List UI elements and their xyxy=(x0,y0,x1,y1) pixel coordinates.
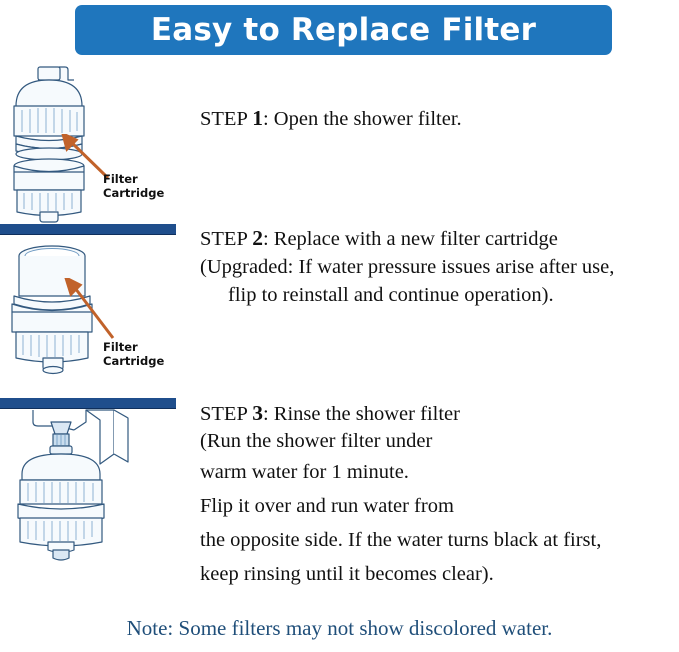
callout-line-2: Cartridge xyxy=(103,354,164,368)
filter-mounted-graphic xyxy=(0,400,190,565)
step-2-line-2: (Upgraded: If water pressure issues aris… xyxy=(200,253,614,281)
step-1-text: STEP 1: Open the shower filter. xyxy=(200,105,462,132)
illustration-filter-mounted xyxy=(0,400,190,560)
step-3-line-1: STEP 3: Rinse the shower filter xyxy=(200,400,601,428)
footer-note: Note: Some filters may not show discolor… xyxy=(0,616,679,641)
step-1-body: : Open the shower filter. xyxy=(263,108,462,130)
step-2-body: : Replace with a new filter cartridge xyxy=(263,228,558,250)
step-3-body: : Rinse the shower filter xyxy=(263,403,460,425)
step-3-line-4: Flip it over and run water from xyxy=(200,489,601,523)
step-1-label: STEP xyxy=(200,108,247,130)
page-title-banner: Easy to Replace Filter xyxy=(75,5,612,55)
step-3-label: STEP xyxy=(200,403,247,425)
callout-line-1: Filter xyxy=(103,172,138,186)
section-divider-1 xyxy=(0,224,176,235)
callout-filter-cartridge-2: Filter Cartridge xyxy=(103,340,164,368)
page-title: Easy to Replace Filter xyxy=(151,15,536,46)
step-3-line-6: keep rinsing until it becomes clear). xyxy=(200,557,601,591)
step-2-line-3: flip to reinstall and continue operation… xyxy=(200,281,614,309)
step-3-line-5: the opposite side. If the water turns bl… xyxy=(200,523,601,557)
callout-line-1: Filter xyxy=(103,340,138,354)
step-3-number: 3 xyxy=(252,401,263,425)
step-1-line-1: STEP 1: Open the shower filter. xyxy=(200,105,462,132)
step-2-text: STEP 2: Replace with a new filter cartri… xyxy=(200,224,614,309)
step-3-line-3: warm water for 1 minute. xyxy=(200,455,601,489)
step-2-number: 2 xyxy=(252,226,263,250)
filter-cartridge-arrow-2 xyxy=(63,278,118,340)
step-3-text: STEP 3: Rinse the shower filter (Run the… xyxy=(200,400,601,591)
callout-line-2: Cartridge xyxy=(103,186,164,200)
step-1-number: 1 xyxy=(252,106,263,130)
step-2-line-1: STEP 2: Replace with a new filter cartri… xyxy=(200,224,614,253)
step-2-label: STEP xyxy=(200,228,247,250)
step-3-line-2: (Run the shower filter under xyxy=(200,428,601,455)
callout-filter-cartridge-1: Filter Cartridge xyxy=(103,172,164,200)
